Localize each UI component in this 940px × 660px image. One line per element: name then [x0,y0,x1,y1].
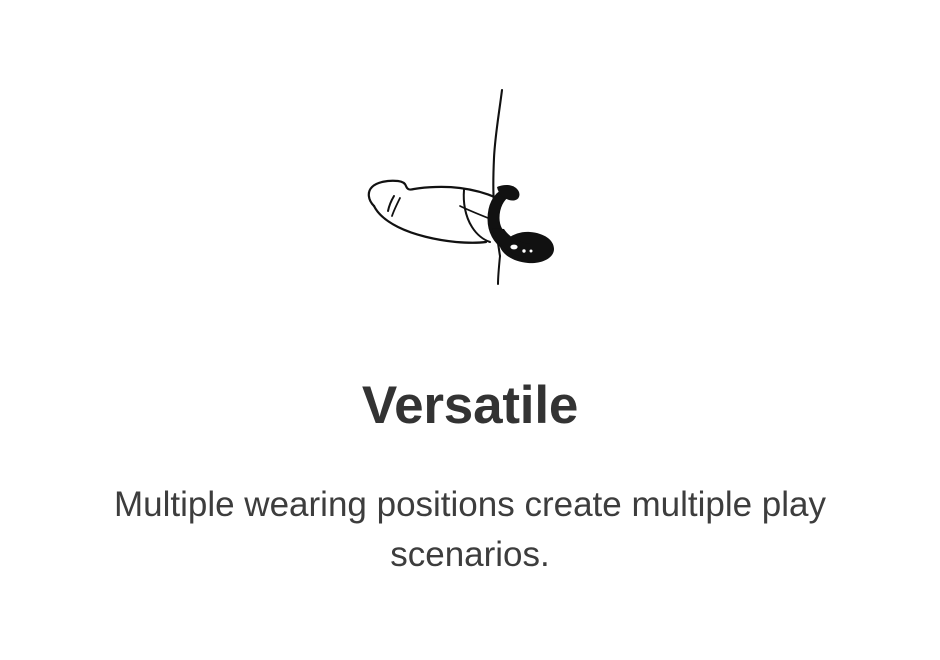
shaft-lower-outline [374,206,486,243]
feature-panel: Versatile Multiple wearing positions cre… [0,0,940,660]
base-seam-detail [460,206,488,218]
feature-description: Multiple wearing positions create multip… [70,480,870,580]
page-title: Versatile [0,375,940,437]
bulb-highlight-dot-2 [530,250,533,253]
illustration-container [0,0,940,300]
base-arc-detail [464,190,490,242]
bulb-highlight-large [510,245,517,250]
wearable-ring-illustration [364,88,584,288]
bulb-highlight-dot-1 [522,249,525,252]
body-contour-lower [498,256,500,284]
tip-notch-detail [388,196,394,211]
shaft-upper-outline [369,181,497,206]
tip-groove-detail [392,198,400,216]
